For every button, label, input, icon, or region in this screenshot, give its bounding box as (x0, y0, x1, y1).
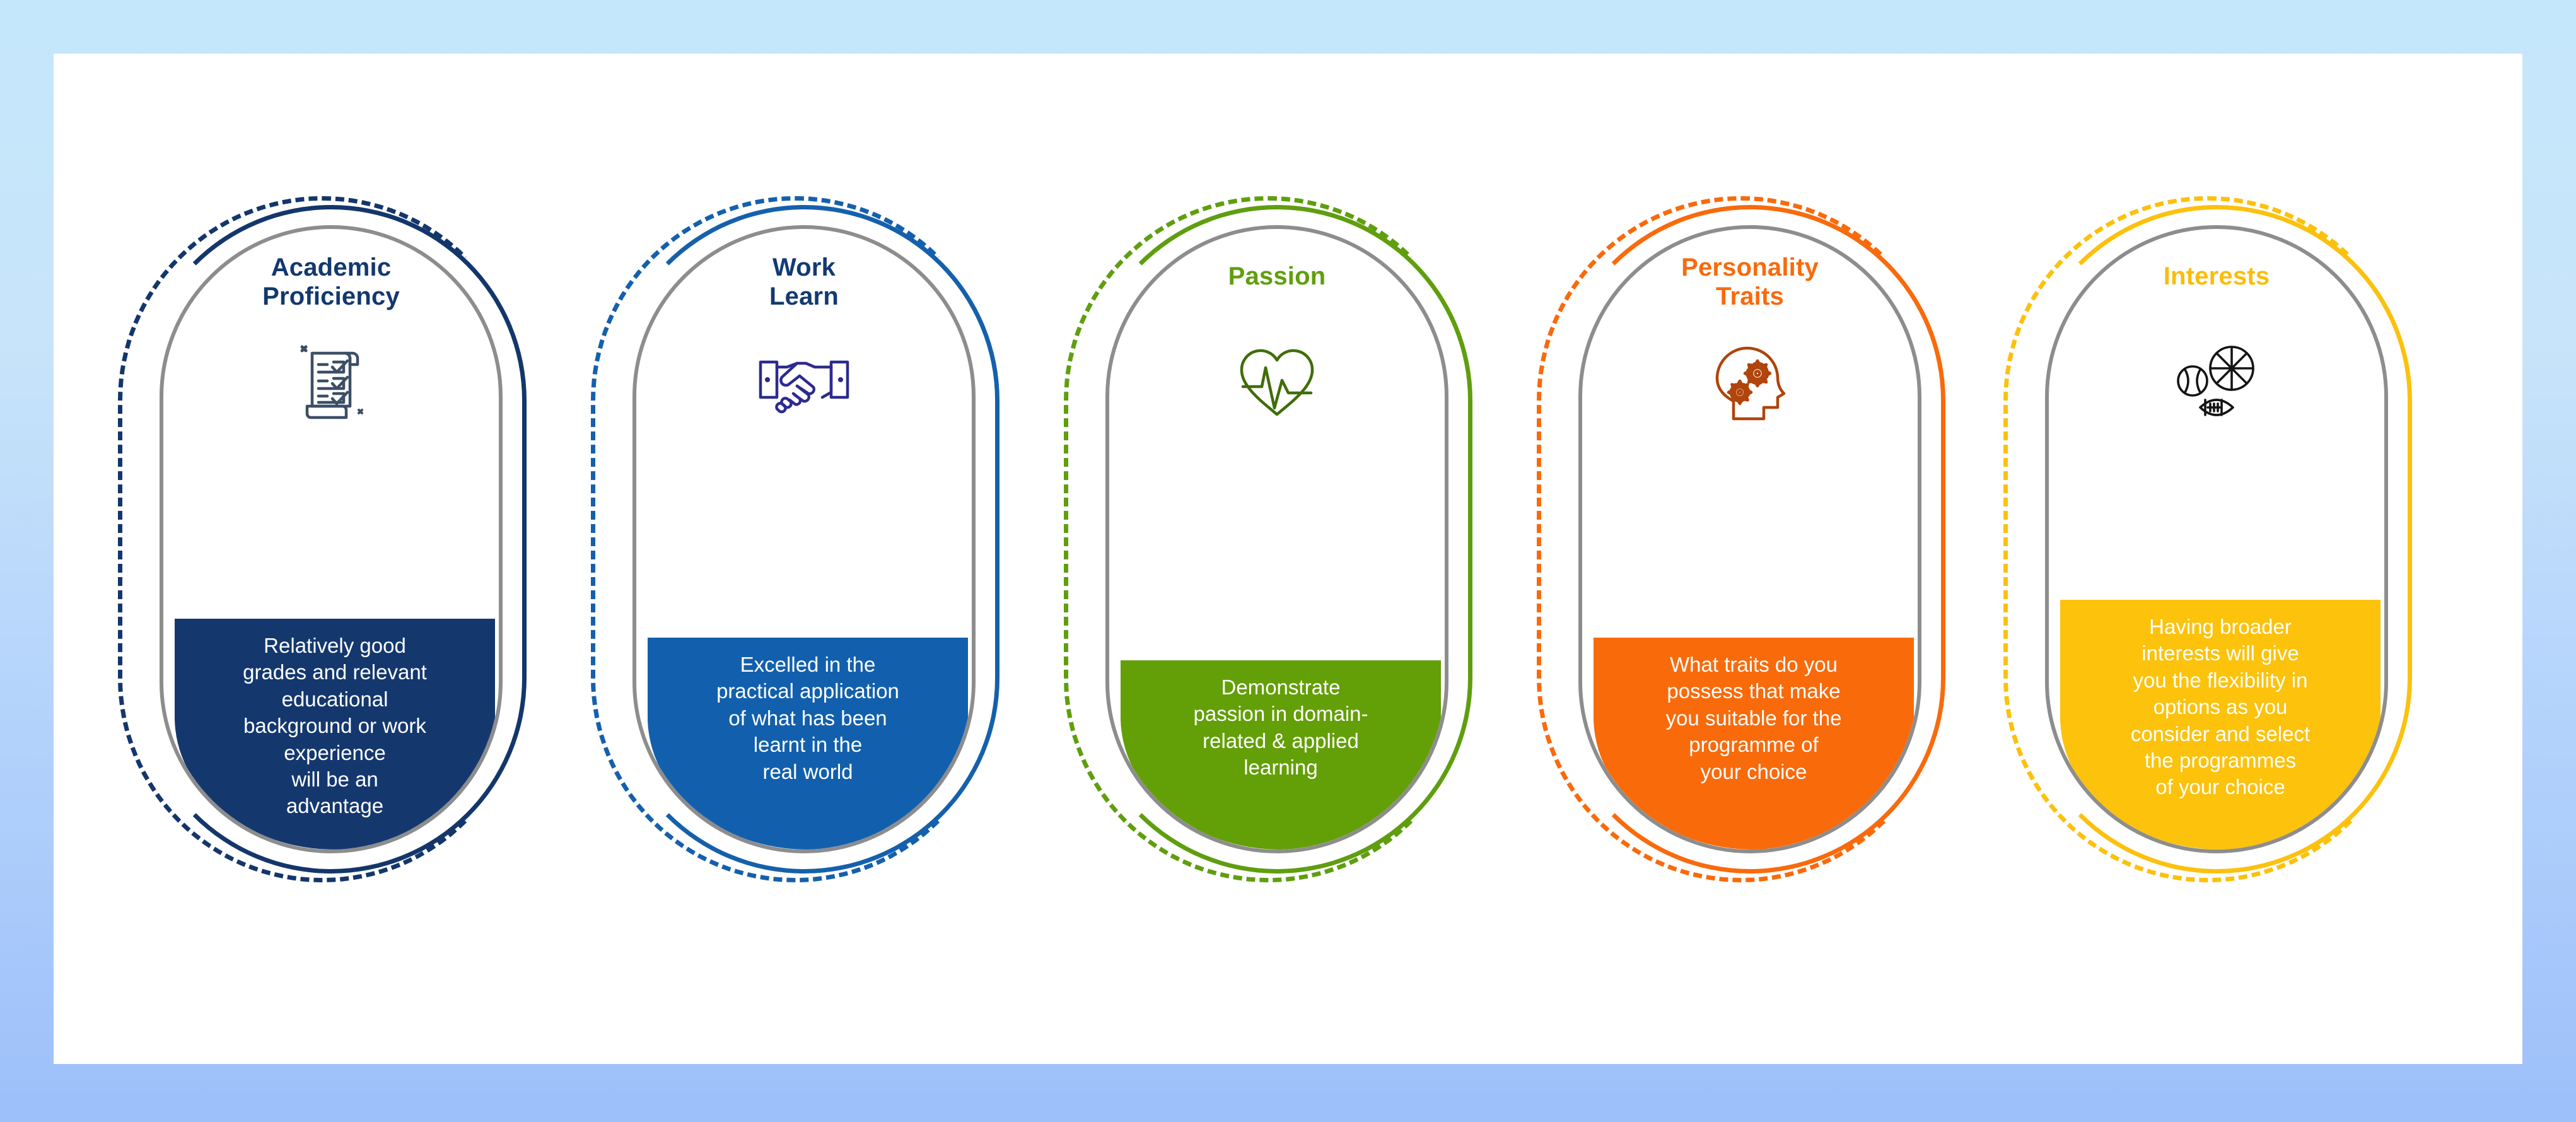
heart-heartbeat-icon (1109, 335, 1445, 430)
card-title: Personality Traits (1582, 253, 1918, 312)
criteria-cards-row: Academic Proficiency (54, 54, 2522, 1064)
card-work-learn[interactable]: Work Learn (609, 205, 1000, 874)
infographic-panel: Academic Proficiency (54, 54, 2522, 1064)
card-academic-proficiency[interactable]: Academic Proficiency (136, 205, 527, 874)
sports-balls-icon (2049, 335, 2384, 430)
inner-grey-ring: Work Learn (632, 225, 976, 853)
card-passion[interactable]: Passion Demonstrate passion in domain- r… (1081, 205, 1472, 874)
card-title: Academic Proficiency (163, 253, 499, 312)
card-title: Passion (1109, 262, 1445, 291)
inner-grey-ring: Interests (2045, 225, 2388, 853)
head-gears-icon (1582, 335, 1918, 430)
card-title: Interests (2049, 262, 2384, 291)
inner-grey-ring: Academic Proficiency (160, 225, 503, 853)
card-personality-traits[interactable]: Personality Traits (1554, 205, 1945, 874)
inner-grey-ring: Passion Demonstrate passion in domain- r… (1105, 225, 1448, 853)
card-interests[interactable]: Interests (2021, 205, 2412, 874)
handshake-icon (636, 335, 972, 430)
inner-grey-ring: Personality Traits (1578, 225, 1921, 853)
card-title: Work Learn (636, 253, 972, 312)
scroll-checklist-icon (163, 335, 499, 430)
